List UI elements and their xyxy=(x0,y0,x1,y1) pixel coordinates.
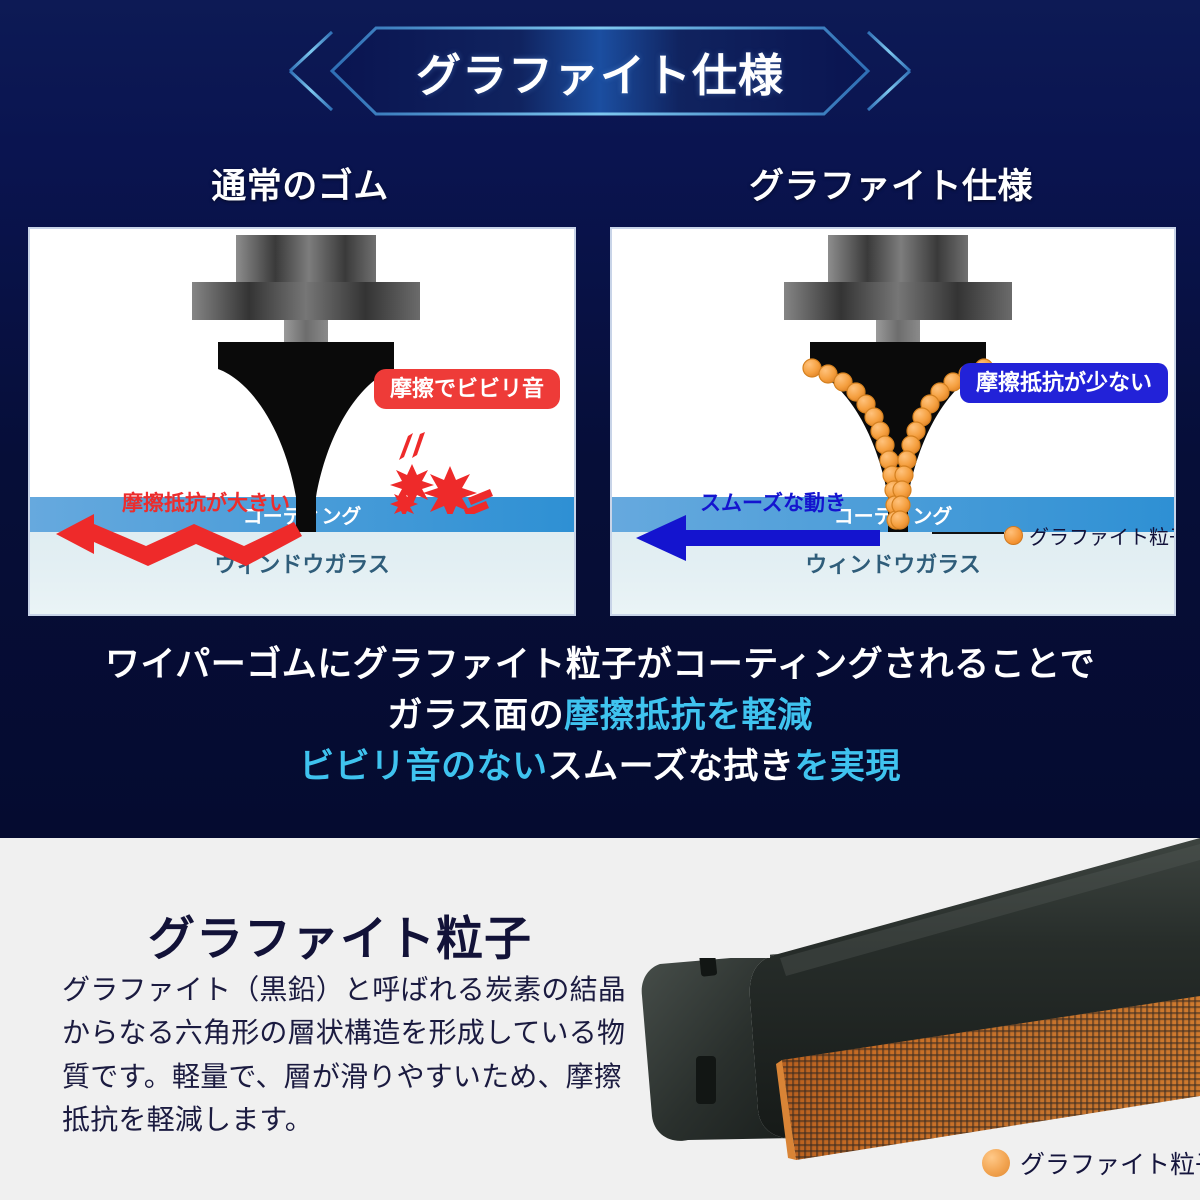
right-panel-title: グラファイト仕様 xyxy=(610,158,1172,209)
photo-legend: グラファイト粒子 xyxy=(982,1145,1200,1181)
summary-copy: ワイパーゴムにグラファイト粒子がコーティングされることで ガラス面の摩擦抵抗を軽… xyxy=(0,640,1200,792)
graphite-particle-legend-icon xyxy=(982,1149,1010,1177)
summary-line-3-plain: スムーズな拭き xyxy=(548,747,795,786)
photo-legend-label: グラファイト粒子 xyxy=(1020,1145,1200,1181)
graphite-particle-icon xyxy=(1004,526,1023,545)
summary-line-3-tail: を実現 xyxy=(794,747,901,786)
summary-line-3-highlight-a: ビビリ音のない xyxy=(299,747,548,786)
summary-line-3: ビビリ音のないスムーズな拭きを実現 xyxy=(0,742,1200,793)
page-title: グラファイト仕様 xyxy=(280,22,920,120)
noise-badge: 摩擦でビビリ音 xyxy=(374,369,560,409)
friction-arrow-label: 摩擦抵抗が大きい xyxy=(122,487,290,517)
graphite-section-title: グラファイト粒子 xyxy=(148,900,532,969)
graphite-particle-callout: グラファイト粒子 xyxy=(1004,521,1176,550)
smooth-motion-label: スムーズな動き xyxy=(700,487,846,517)
header-banner: グラファイト仕様 xyxy=(280,22,920,120)
spark-icon xyxy=(374,424,494,514)
friction-arrow-icon xyxy=(54,510,304,576)
graphite-section-body: グラファイト（黒鉛）と呼ばれる炭素の結晶からなる六角形の層状構造を形成している物… xyxy=(62,968,632,1142)
callout-leader-line xyxy=(932,532,1004,534)
comparison-section: グラファイト仕様 通常のゴム グラファイト仕様 コーティング ウィンドウガラス xyxy=(0,0,1200,838)
summary-line-2-plain: ガラス面の xyxy=(387,696,564,735)
infographic-page: グラファイト仕様 通常のゴム グラファイト仕様 コーティング ウィンドウガラス xyxy=(0,0,1200,1200)
left-panel-title: 通常のゴム xyxy=(28,158,572,209)
diagram-panel-normal-rubber: コーティング ウィンドウガラス xyxy=(28,227,576,616)
smooth-motion-arrow-icon xyxy=(634,513,884,563)
low-friction-badge: 摩擦抵抗が少ない xyxy=(960,363,1168,403)
summary-line-1: ワイパーゴムにグラファイト粒子がコーティングされることで xyxy=(0,640,1200,691)
diagram-panel-graphite: コーティング ウィンドウガラス xyxy=(610,227,1176,616)
graphite-particle-callout-label: グラファイト粒子 xyxy=(1029,521,1176,550)
summary-line-2-highlight: 摩擦抵抗を軽減 xyxy=(564,696,813,735)
summary-line-2: ガラス面の摩擦抵抗を軽減 xyxy=(0,691,1200,742)
